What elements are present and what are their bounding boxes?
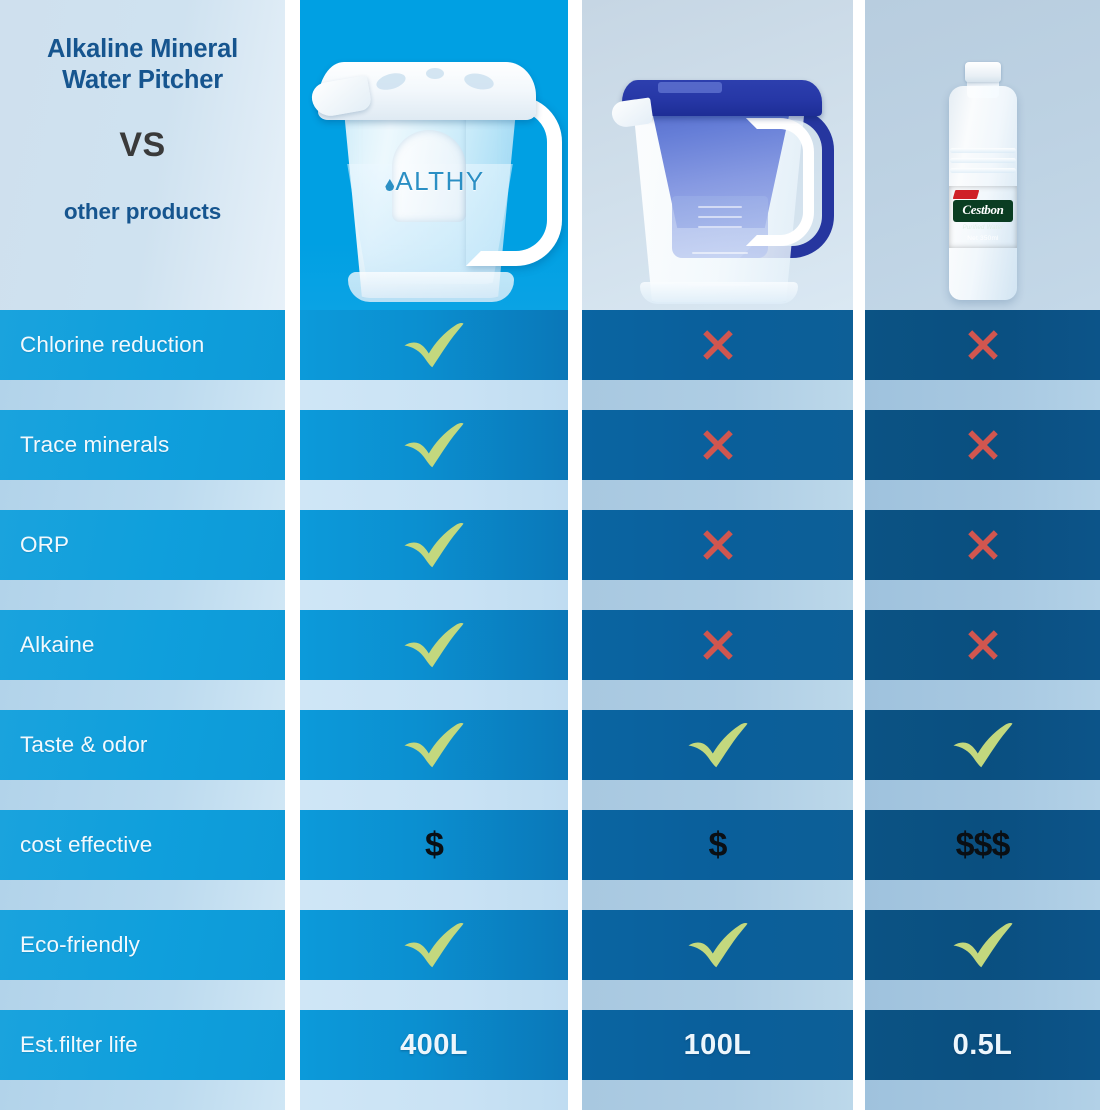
table-cell — [865, 510, 1100, 580]
cestbon-bottle-illustration: Cestbon Purified Water Net 350ml — [943, 62, 1023, 302]
table-cell — [865, 710, 1100, 780]
table-cell — [300, 610, 568, 680]
table-cell: $ — [300, 810, 568, 880]
row-label-cell: Chlorine reduction — [0, 310, 285, 380]
bottle-rib-1 — [950, 148, 1016, 153]
separator-label-cell — [0, 880, 285, 910]
row-label: Trace minerals — [20, 410, 169, 480]
vs-label: VS — [119, 126, 165, 165]
row-label-cell: ORP — [0, 510, 285, 580]
page-title: Alkaline Mineral Water Pitcher VS other … — [0, 0, 285, 310]
column-divider-2 — [568, 0, 582, 1100]
filter-life-value: 400L — [400, 1029, 468, 1062]
table-cell — [300, 710, 568, 780]
cross-icon — [966, 628, 1000, 662]
check-icon — [686, 722, 750, 768]
subtitle-other-products: other products — [64, 199, 221, 225]
table-cell — [300, 310, 568, 380]
bottle-cap — [965, 62, 1001, 82]
separator-cell — [582, 580, 853, 610]
separator-cell — [865, 680, 1100, 710]
row-label-cell: Trace minerals — [0, 410, 285, 480]
row-separator — [0, 580, 1100, 610]
table-cell — [865, 610, 1100, 680]
separator-cell — [865, 780, 1100, 810]
table-cell — [865, 910, 1100, 980]
table-cell — [582, 910, 853, 980]
product-2-image — [582, 0, 853, 310]
table-cell — [865, 410, 1100, 480]
althy-brand-text: ALTHY — [395, 166, 484, 196]
blue-pitcher-lid — [622, 80, 822, 116]
cross-icon — [966, 528, 1000, 562]
table-cell — [582, 510, 853, 580]
title-main: Alkaline Mineral Water Pitcher — [7, 34, 279, 96]
column-divider-3 — [853, 0, 865, 1100]
column-divider-1 — [285, 0, 300, 1100]
table-cell — [582, 710, 853, 780]
row-separator — [0, 680, 1100, 710]
blue-pitcher-illustration — [606, 56, 830, 306]
separator-label-cell — [0, 680, 285, 710]
volume-mark-1 — [698, 206, 742, 208]
label-net-volume-text: Net 350ml — [943, 235, 1023, 242]
separator-label-cell — [0, 580, 285, 610]
separator-cell — [300, 780, 568, 810]
row-label-cell: Eco-friendly — [0, 910, 285, 980]
product-1-image: ALTHY — [300, 0, 568, 310]
row-label: Eco-friendly — [20, 910, 140, 980]
table-cell: 0.5L — [865, 1010, 1100, 1080]
row-separator — [0, 480, 1100, 510]
separator-label-cell — [0, 1080, 285, 1110]
label-purified-water-text: Purified Water — [943, 225, 1023, 231]
row-separator — [0, 880, 1100, 910]
title-line-2: Water Pitcher — [7, 65, 279, 96]
volume-mark-2 — [698, 216, 742, 218]
filter-life-value: 0.5L — [953, 1029, 1013, 1062]
row-label-cell: cost effective — [0, 810, 285, 880]
filter-life-value: 100L — [684, 1029, 752, 1062]
cross-icon — [701, 528, 735, 562]
volume-mark-3 — [698, 226, 742, 228]
table-cell — [865, 310, 1100, 380]
check-icon — [402, 722, 466, 768]
bottle-rib-3 — [950, 168, 1016, 173]
cost-value: $ — [709, 826, 727, 865]
comparison-chart: Alkaline Mineral Water Pitcher VS other … — [0, 0, 1100, 1100]
row-label: Est.filter life — [20, 1010, 138, 1080]
row-separator — [0, 1080, 1100, 1110]
label-red-flash — [953, 190, 980, 199]
althy-logo: ALTHY — [314, 166, 556, 197]
check-icon — [402, 322, 466, 368]
table-cell: 100L — [582, 1010, 853, 1080]
separator-label-cell — [0, 780, 285, 810]
blue-pitcher-base — [640, 282, 798, 304]
lid-vent-center — [426, 68, 444, 79]
althy-pitcher-illustration: ALTHY — [314, 44, 556, 306]
separator-label-cell — [0, 480, 285, 510]
separator-label-cell — [0, 380, 285, 410]
cost-value: $ — [425, 826, 443, 865]
row-label: Alkaine — [20, 610, 95, 680]
table-cell — [300, 910, 568, 980]
blue-pitcher-handle-inner — [746, 118, 814, 246]
table-cell — [582, 310, 853, 380]
separator-cell — [865, 580, 1100, 610]
separator-cell — [865, 480, 1100, 510]
separator-cell — [865, 980, 1100, 1010]
cestbon-brand-text: Cestbon — [943, 202, 1023, 218]
cost-value: $$$ — [956, 826, 1010, 865]
row-label: Taste & odor — [20, 710, 148, 780]
pitcher-base — [348, 272, 514, 302]
row-separator — [0, 980, 1100, 1010]
cross-icon — [701, 328, 735, 362]
separator-cell — [300, 480, 568, 510]
check-icon — [402, 922, 466, 968]
water-drop-icon — [385, 179, 394, 191]
blue-pitcher-lid-tab — [658, 82, 722, 93]
product-3-image: Cestbon Purified Water Net 350ml — [865, 0, 1100, 310]
row-label: ORP — [20, 510, 69, 580]
table-cell — [582, 410, 853, 480]
table-cell: $ — [582, 810, 853, 880]
check-icon — [951, 722, 1015, 768]
separator-label-cell — [0, 980, 285, 1010]
separator-cell — [300, 380, 568, 410]
table-cell — [300, 410, 568, 480]
separator-cell — [582, 780, 853, 810]
check-icon — [402, 422, 466, 468]
row-label-cell: Taste & odor — [0, 710, 285, 780]
separator-cell — [582, 380, 853, 410]
separator-cell — [300, 880, 568, 910]
volume-mark-4 — [692, 252, 748, 254]
separator-cell — [300, 580, 568, 610]
separator-cell — [865, 1080, 1100, 1110]
table-cell — [300, 510, 568, 580]
row-separator — [0, 780, 1100, 810]
row-separator — [0, 380, 1100, 410]
table-cell: 400L — [300, 1010, 568, 1080]
bottle-rib-2 — [950, 158, 1016, 163]
table-cell: $$$ — [865, 810, 1100, 880]
check-icon — [402, 622, 466, 668]
separator-cell — [582, 980, 853, 1010]
table-cell — [582, 610, 853, 680]
separator-cell — [582, 880, 853, 910]
separator-cell — [300, 1080, 568, 1110]
check-icon — [402, 522, 466, 568]
separator-cell — [582, 480, 853, 510]
separator-cell — [300, 680, 568, 710]
row-label-cell: Alkaine — [0, 610, 285, 680]
title-line-1: Alkaline Mineral — [7, 34, 279, 65]
cross-icon — [701, 628, 735, 662]
separator-cell — [865, 880, 1100, 910]
separator-cell — [865, 380, 1100, 410]
blue-pitcher-spout — [610, 97, 653, 128]
row-label: Chlorine reduction — [20, 310, 204, 380]
check-icon — [686, 922, 750, 968]
separator-cell — [582, 680, 853, 710]
cross-icon — [966, 428, 1000, 462]
separator-cell — [582, 1080, 853, 1110]
cross-icon — [701, 428, 735, 462]
row-label: cost effective — [20, 810, 152, 880]
check-icon — [951, 922, 1015, 968]
row-label-cell: Est.filter life — [0, 1010, 285, 1080]
separator-cell — [300, 980, 568, 1010]
cross-icon — [966, 328, 1000, 362]
